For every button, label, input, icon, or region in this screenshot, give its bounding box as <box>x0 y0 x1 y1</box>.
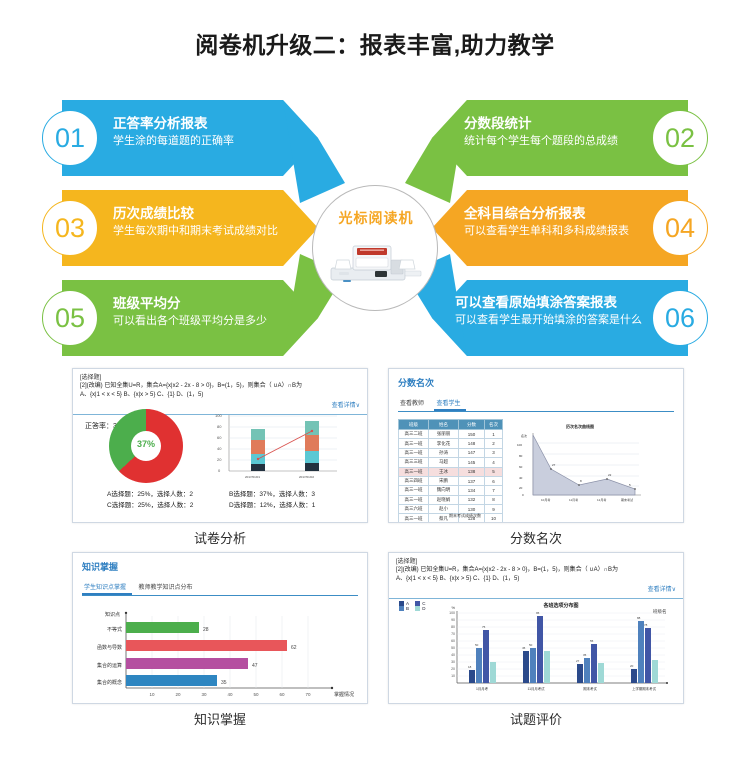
score-rank-table: 班级 姓名 分数 名次 高三二班张丽丽1501高三一班李化花1482高三一班孙涛… <box>398 419 503 523</box>
svg-text:28: 28 <box>203 627 209 633</box>
rank-chart-title: 历次名次曲线图 <box>566 423 594 429</box>
svg-text:20: 20 <box>217 457 222 462</box>
question-line-2: A、{x|1 < x < 5} B、{x|x > 5} C、{1} D、(1，5… <box>80 391 360 400</box>
table-row[interactable]: 高三三班马超1454 <box>399 458 503 467</box>
table-row[interactable]: 高三四班宋鹏1376 <box>399 476 503 485</box>
svg-text:100: 100 <box>215 413 222 418</box>
table-cell: 高三一班 <box>399 486 429 495</box>
knowledge-y-axis-label: 知识点 <box>105 611 120 618</box>
svg-text:20: 20 <box>175 692 181 697</box>
score-rank-title: 分数名次 <box>398 376 674 389</box>
svg-text:60: 60 <box>519 465 523 469</box>
feature-text-05: 班级平均分 可以看出各个班级平均分是多少 <box>113 296 318 329</box>
tab-view-student[interactable]: 查看学生 <box>434 396 466 411</box>
svg-text:名次: 名次 <box>521 433 527 438</box>
svg-text:10月考: 10月考 <box>541 497 550 502</box>
svg-text:70: 70 <box>305 692 311 697</box>
table-cell: 150 <box>459 430 485 439</box>
svg-text:40: 40 <box>519 476 523 480</box>
svg-text:35: 35 <box>221 680 227 686</box>
svg-text:55: 55 <box>590 639 594 643</box>
svg-text:5: 5 <box>629 483 631 487</box>
svg-text:47: 47 <box>252 663 258 669</box>
svg-text:50: 50 <box>253 692 259 697</box>
svg-text:70: 70 <box>451 632 455 636</box>
table-cell: 134 <box>459 486 485 495</box>
panel-question-eval-screenshot: [选择题] [2](改编) 已知全集U=R，集合A={x|x2 - 2x - 8… <box>388 552 684 704</box>
svg-text:27: 27 <box>576 659 580 663</box>
eval-chart-title: 各班选项分布图 <box>542 602 578 609</box>
svg-text:不等式: 不等式 <box>107 626 122 633</box>
svg-text:45: 45 <box>522 646 526 650</box>
svg-text:期末考试: 期末考试 <box>583 686 597 691</box>
feature-text-02: 分数段统计 统计每个学生每个题段的总成绩 <box>464 116 679 149</box>
svg-text:50: 50 <box>451 646 455 650</box>
feature-number-01-label: 01 <box>55 123 85 154</box>
svg-text:30: 30 <box>201 692 207 697</box>
svg-text:40: 40 <box>227 692 233 697</box>
legend-item-b: B <box>399 606 409 611</box>
svg-text:20: 20 <box>451 667 455 671</box>
svg-text:20: 20 <box>630 664 634 668</box>
feature-number-03: 03 <box>42 200 98 256</box>
score-rank-table-body: 高三二班张丽丽1501高三一班李化花1482高三一班孙涛1473高三三班马超14… <box>399 430 503 524</box>
table-row[interactable]: 高三一班王冰1385 <box>399 467 503 476</box>
table-cell: 5 <box>485 467 503 476</box>
th-score: 分数 <box>459 420 485 430</box>
svg-text:60: 60 <box>451 639 455 643</box>
svg-text:62: 62 <box>291 645 297 651</box>
feature-text-06: 可以查看原始填涂答案报表 可以查看学生最开始填涂的答案是什么 <box>455 295 680 328</box>
panel-caption-paper-analysis: 试卷分析 <box>72 528 368 547</box>
tab-view-teacher[interactable]: 查看教师 <box>398 396 430 409</box>
th-rank: 名次 <box>485 420 503 430</box>
svg-text:80: 80 <box>217 424 222 429</box>
svg-text:22: 22 <box>608 473 612 477</box>
svg-text:12月考: 12月考 <box>597 497 606 502</box>
table-cell: 高三三班 <box>399 458 429 467</box>
screenshot-panels: [选择题] [2](改编) 已知全集U=R，集合A={x|x2 - 2x - 8… <box>0 362 750 757</box>
feature-text-01: 正答率分析报表 学生涂的每道题的正确率 <box>113 116 313 149</box>
question-tag: [选择题] <box>80 374 360 382</box>
question-tag-eval: [选择题] <box>396 558 676 566</box>
score-rank-tabbar: 查看教师 查看学生 <box>398 392 674 412</box>
table-cell: 4 <box>485 458 503 467</box>
eval-legend: A C B D <box>399 601 431 611</box>
legend-item-d: D <box>415 606 425 611</box>
table-cell: 145 <box>459 458 485 467</box>
table-row[interactable]: 高三一班魏向明1347 <box>399 486 503 495</box>
table-cell: 马超 <box>429 458 459 467</box>
table-cell: 李化花 <box>429 439 459 448</box>
th-name: 姓名 <box>429 420 459 430</box>
svg-text:78: 78 <box>644 623 648 627</box>
feature-sub-02: 统计每个学生每个题段的总成绩 <box>464 134 679 149</box>
feature-sub-03: 学生每次期中和期末考试成绩对比 <box>113 224 323 239</box>
panel-question-eval: [选择题] [2](改编) 已知全集U=R，集合A={x|x2 - 2x - 8… <box>388 552 684 728</box>
th-class: 班级 <box>399 420 429 430</box>
option-stat-c: C选择题：25%，选择人数：2 <box>107 500 229 511</box>
question-eval-grouped-bar-chart: 各班选项分布图 班级名 % 102030 4050 <box>431 597 679 701</box>
table-row[interactable]: 高三一班赵晓娟1328 <box>399 495 503 504</box>
table-cell: 宋鹏 <box>429 476 459 485</box>
table-cell: 高三四班 <box>399 476 429 485</box>
knowledge-tabbar: 学生知识点掌握 教师教学知识点分布 <box>82 576 358 596</box>
table-cell: 3 <box>485 448 503 457</box>
table-cell: 孙涛 <box>429 448 459 457</box>
question-header-eval: [选择题] [2](改编) 已知全集U=R，集合A={x|x2 - 2x - 8… <box>389 553 683 599</box>
eval-series-label: 班级名 <box>653 608 667 615</box>
donut-center-label: 37% <box>109 439 183 449</box>
feature-text-04: 全科目综合分析报表 可以查看学生单科和多科成绩报表 <box>464 206 679 239</box>
feature-sub-01: 学生涂的每道题的正确率 <box>113 134 313 149</box>
table-cell: 137 <box>459 476 485 485</box>
svg-text:80: 80 <box>451 625 455 629</box>
table-cell: 148 <box>459 439 485 448</box>
table-cell: 高三一班 <box>399 448 429 457</box>
svg-text:期末考试: 期末考试 <box>621 497 633 502</box>
table-cell: 高三一班 <box>399 467 429 476</box>
legend-swatch-b <box>399 606 404 611</box>
feature-title-04: 全科目综合分析报表 <box>464 206 679 222</box>
feature-title-02: 分数段统计 <box>464 116 679 132</box>
table-cell: 王冰 <box>429 467 459 476</box>
svg-text:18: 18 <box>468 665 472 669</box>
table-cell: 魏向明 <box>429 486 459 495</box>
panel-score-rank: 分数名次 查看教师 查看学生 班级 姓名 分数 名次 <box>388 368 684 547</box>
knowledge-title: 知识掌握 <box>82 560 358 573</box>
panel-caption-knowledge: 知识掌握 <box>72 709 368 728</box>
svg-text:11月考: 11月考 <box>569 497 578 502</box>
svg-text:27: 27 <box>552 463 556 467</box>
svg-text:20: 20 <box>519 486 523 490</box>
tab-student-knowledge[interactable]: 学生知识点掌握 <box>82 580 132 595</box>
table-cell: 高三一班 <box>399 439 429 448</box>
feature-text-03: 历次成绩比较 学生每次期中和期末考试成绩对比 <box>113 206 323 239</box>
center-product-label: 光标阅读机 <box>313 208 439 228</box>
feature-number-01: 01 <box>42 110 98 166</box>
svg-text:100: 100 <box>517 443 522 447</box>
svg-text:50: 50 <box>529 643 533 647</box>
panel-paper-analysis: [选择题] [2](改编) 已知全集U=R，集合A={x|x2 - 2x - 8… <box>72 368 368 547</box>
question-line-1-eval: [2](改编) 已知全集U=R，集合A={x|x2 - 2x - 8 > 0}，… <box>396 566 676 575</box>
knowledge-mastery-bar-chart: 知识点 28 62 <box>82 602 358 704</box>
tab-teacher-knowledge[interactable]: 教师教学知识点分布 <box>136 580 198 593</box>
feature-number-05: 05 <box>42 290 98 346</box>
option-stat-b: B选择题：37%，选择人数：3 <box>229 489 315 500</box>
svg-text:1月月考: 1月月考 <box>476 686 489 691</box>
option-stat-a: A选择题：25%，选择人数：2 <box>107 489 229 500</box>
svg-text:0: 0 <box>218 468 221 473</box>
panel-caption-question-eval: 试题评价 <box>388 709 684 728</box>
table-cell: 10 <box>485 514 503 523</box>
svg-text:100: 100 <box>449 611 455 615</box>
svg-text:40: 40 <box>217 446 222 451</box>
infographic-page: 阅卷机升级二：报表丰富,助力教学 01 02 <box>0 0 750 757</box>
view-detail-link-eval[interactable]: 查看详情∨ <box>396 586 676 595</box>
center-product-circle: 光标阅读机 <box>312 185 438 311</box>
page-title: 阅卷机升级二：报表丰富,助力教学 <box>0 26 750 60</box>
svg-text:8: 8 <box>580 479 582 483</box>
table-cell: 赵晓娟 <box>429 495 459 504</box>
table-cell: 138 <box>459 467 485 476</box>
svg-text:0: 0 <box>522 493 524 497</box>
table-cell: 147 <box>459 448 485 457</box>
radial-feature-diagram: 01 02 03 04 05 06 正答率分析报表 学生涂的每道题的正确率 分数… <box>0 78 750 360</box>
table-cell: 高三一班 <box>399 495 429 504</box>
legend-swatch-d <box>415 606 420 611</box>
panel-caption-score-rank: 分数名次 <box>388 528 684 547</box>
svg-text:95: 95 <box>536 611 540 615</box>
svg-text:40: 40 <box>451 653 455 657</box>
option-stats: A选择题：25%，选择人数：2 B选择题：37%，选择人数：3 C选择题：25%… <box>107 489 347 511</box>
svg-text:75: 75 <box>482 625 486 629</box>
table-cell: 高三六班 <box>399 505 429 514</box>
panel-knowledge-screenshot: 知识掌握 学生知识点掌握 教师教学知识点分布 知识点 <box>72 552 368 704</box>
panel-score-rank-screenshot: 分数名次 查看教师 查看学生 班级 姓名 分数 名次 <box>388 368 684 523</box>
svg-text:50: 50 <box>475 643 479 647</box>
svg-text:集合的运算: 集合的运算 <box>97 662 122 669</box>
table-cell: 8 <box>485 495 503 504</box>
paper-trend-stacked-bar-chart: 02040 6080100 <box>213 409 343 481</box>
feature-number-03-label: 03 <box>55 213 85 244</box>
svg-text:60: 60 <box>217 435 222 440</box>
banner-connector-02 <box>405 100 467 203</box>
svg-text:2017/01/02: 2017/01/02 <box>299 475 314 479</box>
svg-text:%: % <box>451 605 455 610</box>
question-line-1: [2](改编) 已知全集U=R，集合A={x|x2 - 2x - 8 > 0}，… <box>80 382 360 391</box>
table-cell: 1 <box>485 430 503 439</box>
feature-title-01: 正答率分析报表 <box>113 116 313 132</box>
table-cell: 9 <box>485 505 503 514</box>
feature-sub-06: 可以查看学生最开始填涂的答案是什么 <box>455 313 680 328</box>
table-cell: 7 <box>485 486 503 495</box>
table-header-row: 班级 姓名 分数 名次 <box>399 420 503 430</box>
svg-text:80: 80 <box>519 454 523 458</box>
rank-table-caption: 期末考试成绩次数 <box>449 513 481 519</box>
table-cell: 高三二班 <box>399 430 429 439</box>
svg-text:30: 30 <box>451 660 455 664</box>
feature-sub-04: 可以查看学生单科和多科成绩报表 <box>464 224 679 239</box>
rank-trend-area-chart: 历次名次曲线图 27 8 <box>511 419 649 509</box>
question-line-2-eval: A、{x|1 < x < 5} B、{x|x > 5} C、{1} D、(1，5… <box>396 575 676 584</box>
feature-title-05: 班级平均分 <box>113 296 318 312</box>
svg-text:集合的概念: 集合的概念 <box>97 679 122 686</box>
feature-number-05-label: 05 <box>55 303 85 334</box>
svg-text:10: 10 <box>149 692 155 697</box>
table-row[interactable]: 高三二班张丽丽1501 <box>399 430 503 439</box>
table-row[interactable]: 高三一班孙涛1473 <box>399 448 503 457</box>
panel-paper-analysis-screenshot: [选择题] [2](改编) 已知全集U=R，集合A={x|x2 - 2x - 8… <box>72 368 368 523</box>
scanner-machine-icon <box>327 238 425 286</box>
panel-knowledge: 知识掌握 学生知识点掌握 教师教学知识点分布 知识点 <box>72 552 368 728</box>
feature-sub-05: 可以看出各个班级平均分是多少 <box>113 314 318 329</box>
svg-text:上学期期末考试: 上学期期末考试 <box>632 686 656 691</box>
svg-text:11月月考试: 11月月考试 <box>527 686 545 691</box>
table-cell: 6 <box>485 476 503 485</box>
table-row[interactable]: 高三一班李化花1482 <box>399 439 503 448</box>
svg-text:90: 90 <box>451 618 455 622</box>
feature-title-06: 可以查看原始填涂答案报表 <box>455 295 680 311</box>
table-cell: 张丽丽 <box>429 430 459 439</box>
svg-text:函数与导数: 函数与导数 <box>97 644 122 651</box>
knowledge-x-axis-label: 掌握情况 <box>334 691 354 698</box>
feature-title-03: 历次成绩比较 <box>113 206 323 222</box>
svg-text:2017/01/01: 2017/01/01 <box>245 475 260 479</box>
svg-text:10: 10 <box>451 674 455 678</box>
option-stat-d: D选择题：12%，选择人数：1 <box>229 500 315 511</box>
table-cell: 2 <box>485 439 503 448</box>
svg-text:88: 88 <box>637 616 641 620</box>
svg-text:60: 60 <box>279 692 285 697</box>
svg-text:35: 35 <box>583 653 587 657</box>
table-cell: 高三一班 <box>399 514 429 523</box>
table-cell: 132 <box>459 495 485 504</box>
